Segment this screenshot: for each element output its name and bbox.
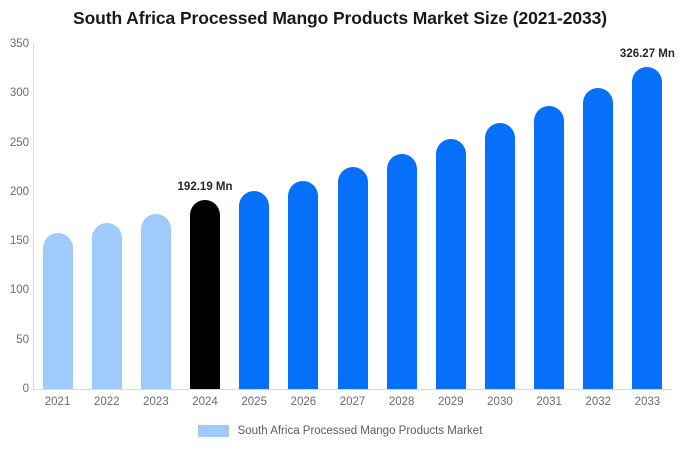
y-axis-tick-label: 100 — [1, 284, 29, 296]
bar-2031[interactable] — [534, 106, 564, 389]
bar-2025[interactable] — [239, 191, 269, 389]
y-axis-tick-labels: 050100150200250300350 — [0, 0, 29, 450]
bar-2026[interactable] — [288, 181, 318, 389]
x-axis-tick-label: 2026 — [291, 396, 317, 408]
bar-2028[interactable] — [387, 154, 417, 389]
x-axis-tick-label: 2022 — [94, 396, 120, 408]
x-axis-tick-label: 2021 — [45, 396, 71, 408]
y-axis-tick-label: 300 — [1, 87, 29, 99]
bar-2030[interactable] — [485, 123, 515, 389]
x-axis-tick-label: 2028 — [389, 396, 415, 408]
y-axis-tick-label: 0 — [1, 383, 29, 395]
y-axis-tick-label: 250 — [1, 137, 29, 149]
bar-2033[interactable] — [632, 67, 662, 389]
bar-2027[interactable] — [338, 167, 368, 389]
bar-2029[interactable] — [436, 139, 466, 389]
data-label-2024: 192.19 Mn — [178, 181, 233, 193]
y-axis-tick-label: 200 — [1, 186, 29, 198]
chart-legend: South Africa Processed Mango Products Ma… — [0, 425, 680, 437]
bar-2024[interactable] — [190, 200, 220, 389]
x-axis-tick-label: 2025 — [241, 396, 267, 408]
x-axis-tick-label: 2024 — [192, 396, 218, 408]
x-axis-tick-label: 2033 — [635, 396, 661, 408]
bar-chart: South Africa Processed Mango Products Ma… — [0, 0, 680, 450]
chart-title: South Africa Processed Mango Products Ma… — [0, 8, 680, 29]
bar-2022[interactable] — [92, 223, 122, 389]
x-axis-tick-label: 2030 — [487, 396, 513, 408]
x-axis-tick-label: 2032 — [585, 396, 611, 408]
bar-2023[interactable] — [141, 214, 171, 389]
x-axis-tick-label: 2027 — [340, 396, 366, 408]
bar-2021[interactable] — [43, 233, 73, 389]
bar-2032[interactable] — [583, 88, 613, 389]
y-axis-tick-label: 150 — [1, 235, 29, 247]
x-axis-line — [33, 389, 672, 390]
bars-container — [33, 44, 672, 389]
x-axis-tick-label: 2029 — [438, 396, 464, 408]
legend-label: South Africa Processed Mango Products Ma… — [238, 425, 483, 437]
x-axis-tick-label: 2031 — [536, 396, 562, 408]
y-axis-tick-label: 350 — [1, 38, 29, 50]
data-label-2033: 326.27 Mn — [620, 48, 675, 60]
legend-swatch-icon — [198, 425, 229, 437]
x-axis-tick-label: 2023 — [143, 396, 169, 408]
y-axis-tick-label: 50 — [1, 334, 29, 346]
